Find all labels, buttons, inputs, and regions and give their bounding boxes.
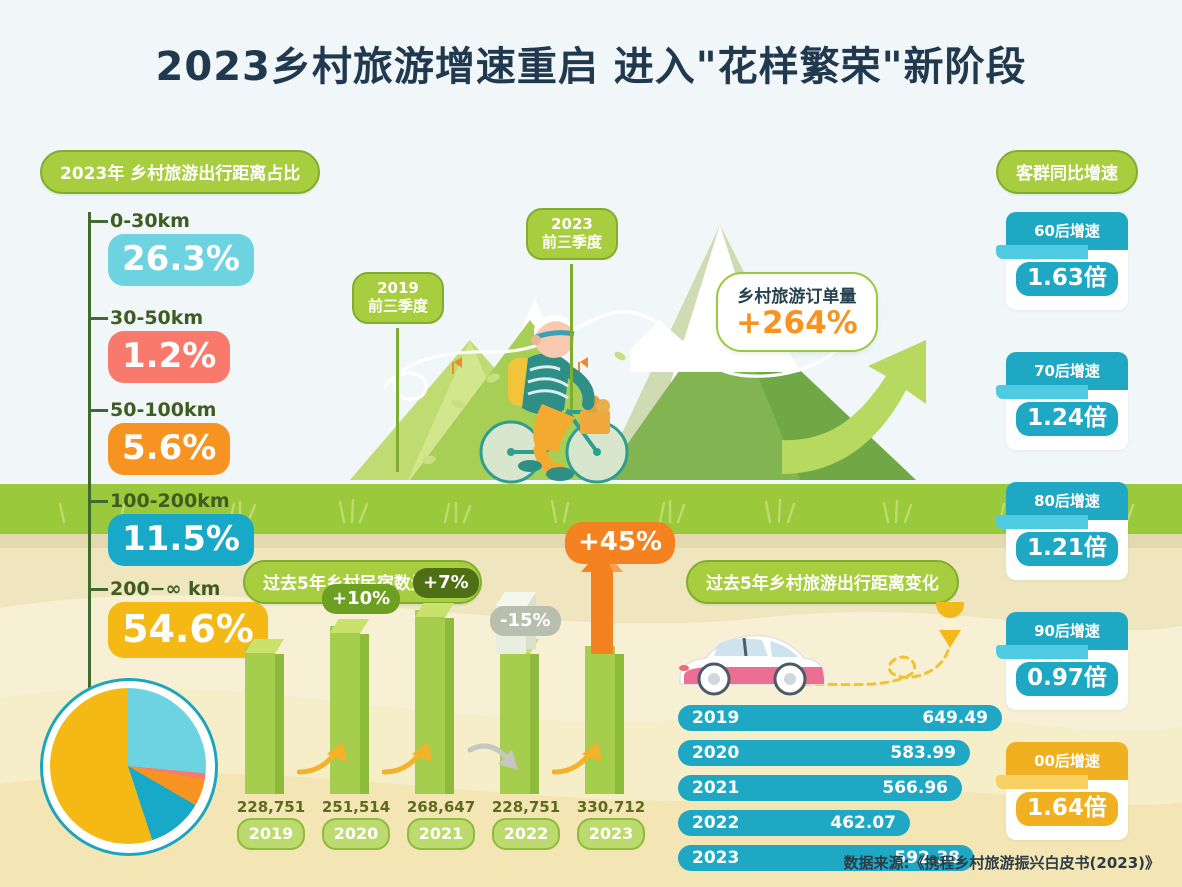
- distance-row-year: 2023: [692, 848, 739, 868]
- distance-row-2020: 2020 583.99: [678, 740, 970, 766]
- distance-row-year: 2019: [692, 708, 739, 728]
- growth-card-body: 1.24倍: [1006, 390, 1128, 450]
- homestay-delta-2020: +10%: [322, 584, 400, 614]
- distance-label: 30-50km: [110, 307, 203, 329]
- car-route-illustration: [672, 602, 1002, 702]
- callout-2023-line1: 2023: [551, 215, 593, 233]
- callout-2023-box: 2023 前三季度: [526, 208, 618, 260]
- homestay-value: 228,751: [235, 798, 307, 816]
- bar-top-face: [415, 603, 454, 617]
- order-growth-label: 乡村旅游订单量: [736, 282, 858, 307]
- distance-row-value: 583.99: [890, 743, 956, 763]
- growth-card-body: 1.64倍: [1006, 780, 1128, 840]
- distance-value-badge: 11.5%: [108, 514, 254, 566]
- bar-side-face: [615, 654, 624, 794]
- axis-tick-icon: [88, 220, 108, 223]
- growth-card-label: 60后增速: [1034, 222, 1100, 240]
- growth-card-header: 80后增速: [1006, 482, 1128, 520]
- data-source-note: 数据来源:《携程乡村旅游振兴白皮书(2023)》: [844, 852, 1160, 873]
- mountain-illustration: [330, 190, 970, 490]
- growth-card-header: 90后增速: [1006, 612, 1128, 650]
- growth-card-value: 1.21倍: [1016, 532, 1118, 566]
- distance-label: 200−∞ km: [110, 578, 220, 600]
- homestay-year-label: 2019: [237, 818, 305, 850]
- callout-2019-stem: [396, 328, 399, 472]
- callout-2023-line2: 前三季度: [542, 233, 602, 251]
- homestay-delta-2023: +45%: [565, 522, 675, 564]
- order-growth-value: +264%: [736, 307, 858, 340]
- growth-card-value: 1.24倍: [1016, 402, 1118, 436]
- distance-value-badge: 26.3%: [108, 234, 254, 286]
- bar-side-face: [360, 634, 369, 794]
- callout-2019-line2: 前三季度: [368, 297, 428, 315]
- trend-arrow-up-1: [297, 740, 349, 776]
- homestay-bar-2021: +7% 268,647 2021: [405, 620, 477, 850]
- growth-card-header: 00后增速: [1006, 742, 1128, 780]
- trend-arrow-up-4: [552, 740, 604, 776]
- trend-arrow-up-2: [382, 740, 434, 776]
- distance-row-2022: 2022 462.07: [678, 810, 910, 836]
- growth-card-label: 70后增速: [1034, 362, 1100, 380]
- growth-card-label: 00后增速: [1034, 752, 1100, 770]
- ribbon-decoration: [996, 645, 1088, 659]
- bar-side-face: [530, 654, 539, 794]
- growth-card-value: 1.64倍: [1016, 792, 1118, 826]
- growth-card-value: 0.97倍: [1016, 662, 1118, 696]
- ribbon-decoration: [996, 245, 1088, 259]
- distance-label: 50-100km: [110, 399, 216, 421]
- homestay-value: 330,712: [575, 798, 647, 816]
- distance-row-value: 462.07: [830, 813, 896, 833]
- travel-distance-chart: 过去5年乡村旅游出行距离变化 2019 649.49 2020 583.99: [672, 560, 1002, 850]
- homestay-year-label: 2020: [322, 818, 390, 850]
- distance-row-year: 2022: [692, 813, 739, 833]
- homestay-year-label: 2023: [577, 818, 645, 850]
- bar-top-face: [245, 639, 284, 653]
- homestay-value: 251,514: [320, 798, 392, 816]
- bar-front-face: [245, 646, 275, 794]
- homestay-year-label: 2021: [407, 818, 475, 850]
- trend-arrow-down-3: [466, 740, 524, 774]
- growth-card-body: 0.97倍: [1006, 650, 1128, 710]
- distance-share-pie-chart: [40, 678, 218, 856]
- distance-label: 100-200km: [110, 490, 230, 512]
- axis-tick-icon: [88, 588, 108, 591]
- callout-2019-box: 2019 前三季度: [352, 272, 444, 324]
- homestay-delta-2021: +7%: [413, 568, 479, 598]
- homestay-value: 268,647: [405, 798, 477, 816]
- distance-row-value: 566.96: [882, 778, 948, 798]
- bar-side-face: [275, 654, 284, 794]
- pie-slices: [50, 688, 206, 844]
- axis-tick-icon: [88, 500, 108, 503]
- homestay-bar-2020: +10% 251,514 2020: [320, 620, 392, 850]
- growth-card-60s: 60后增速 1.63倍: [1006, 212, 1128, 310]
- distance-label: 0-30km: [110, 210, 190, 232]
- growth-card-header: 60后增速: [1006, 212, 1128, 250]
- distance-share-title: 2023年 乡村旅游出行距离占比: [40, 150, 320, 194]
- distance-chart-title: 过去5年乡村旅游出行距离变化: [686, 560, 959, 604]
- homestay-value: 228,751: [490, 798, 562, 816]
- axis-tick-icon: [88, 317, 108, 320]
- page-title: 2023乡村旅游增速重启 进入"花样繁荣"新阶段: [0, 34, 1182, 92]
- ribbon-decoration: [996, 385, 1088, 399]
- growth-card-label: 90后增速: [1034, 622, 1100, 640]
- growth-card-80s: 80后增速 1.21倍: [1006, 482, 1128, 580]
- homestay-count-chart: 过去5年乡村民宿数量变化 228,751 2019 +10% 251,514 2…: [235, 560, 655, 850]
- growth-card-header: 70后增速: [1006, 352, 1128, 390]
- growth-card-70s: 70后增速 1.24倍: [1006, 352, 1128, 450]
- distance-value-badge: 5.6%: [108, 423, 230, 475]
- bar-top-face: [330, 619, 369, 633]
- growth-card-90s: 90后增速 0.97倍: [1006, 612, 1128, 710]
- audience-growth-title: 客群同比增速: [996, 150, 1138, 194]
- homestay-year-label: 2022: [492, 818, 560, 850]
- bar-3d-shape: [245, 646, 283, 794]
- growth-card-body: 1.63倍: [1006, 250, 1128, 310]
- distance-row-value: 649.49: [922, 708, 988, 728]
- distance-row-year: 2021: [692, 778, 739, 798]
- homestay-bar-2023: +45% 330,712 2023: [575, 620, 647, 850]
- growth-card-body: 1.21倍: [1006, 520, 1128, 580]
- callout-2023-stem: [570, 264, 573, 410]
- distance-row-2021: 2021 566.96: [678, 775, 962, 801]
- distance-value-badge: 1.2%: [108, 331, 230, 383]
- bar-side-face: [445, 618, 454, 794]
- growth-card-label: 80后增速: [1034, 492, 1100, 510]
- ribbon-decoration: [996, 515, 1088, 529]
- distance-row-year: 2020: [692, 743, 739, 763]
- homestay-bar-2022: -15% 228,751 2022: [490, 620, 562, 850]
- homestay-bar-2019: 228,751 2019: [235, 620, 307, 850]
- homestay-delta-2022: -15%: [490, 606, 561, 636]
- growth-card-00s: 00后增速 1.64倍: [1006, 742, 1128, 840]
- callout-2019-line1: 2019: [377, 279, 419, 297]
- growth-card-value: 1.63倍: [1016, 262, 1118, 296]
- infographic-canvas: 2023乡村旅游增速重启 进入"花样繁荣"新阶段 2023年 乡村旅游出行距离占…: [0, 0, 1182, 887]
- axis-tick-icon: [88, 409, 108, 412]
- ribbon-decoration: [996, 775, 1088, 789]
- order-growth-badge: 乡村旅游订单量 +264%: [716, 272, 878, 352]
- distance-row-2019: 2019 649.49: [678, 705, 1002, 731]
